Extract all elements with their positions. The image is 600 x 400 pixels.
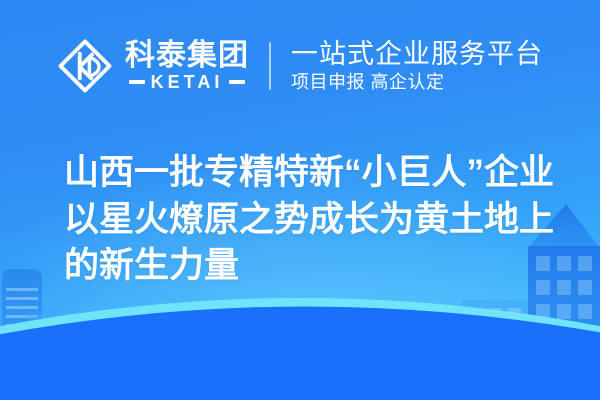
- brand-name-cn: 科泰集团: [125, 41, 249, 71]
- tagline-block: 一站式企业服务平台 项目申报 高企认定: [291, 40, 543, 92]
- tagline-main: 一站式企业服务平台: [291, 40, 543, 68]
- brand-rule-left: [129, 80, 145, 84]
- brand-name-en: KETAI: [151, 73, 224, 91]
- building-left-low-block: [26, 312, 78, 368]
- brand-rule-right: [229, 80, 245, 84]
- building-right-mid-block: [462, 300, 538, 370]
- ketai-diamond-monogram-icon: [57, 38, 113, 94]
- brand-wordmark: 科泰集团 KETAI: [125, 41, 249, 91]
- brand-logo[interactable]: 科泰集团 KETAI: [57, 38, 249, 94]
- banner-root: 科泰集团 KETAI 一站式企业服务平台 项目申报 高企认定 山西一批专精特新“…: [0, 0, 600, 400]
- brand-latin-row: KETAI: [125, 73, 249, 91]
- page-title: 山西一批专精特新“小巨人”企业以星火燎原之势成长为黄土地上的新生力量: [64, 150, 554, 290]
- building-left-tower: [2, 269, 42, 368]
- tagline-sub: 项目申报 高企认定: [291, 73, 543, 92]
- header: 科泰集团 KETAI 一站式企业服务平台 项目申报 高企认定: [0, 0, 600, 132]
- header-divider: [269, 42, 271, 90]
